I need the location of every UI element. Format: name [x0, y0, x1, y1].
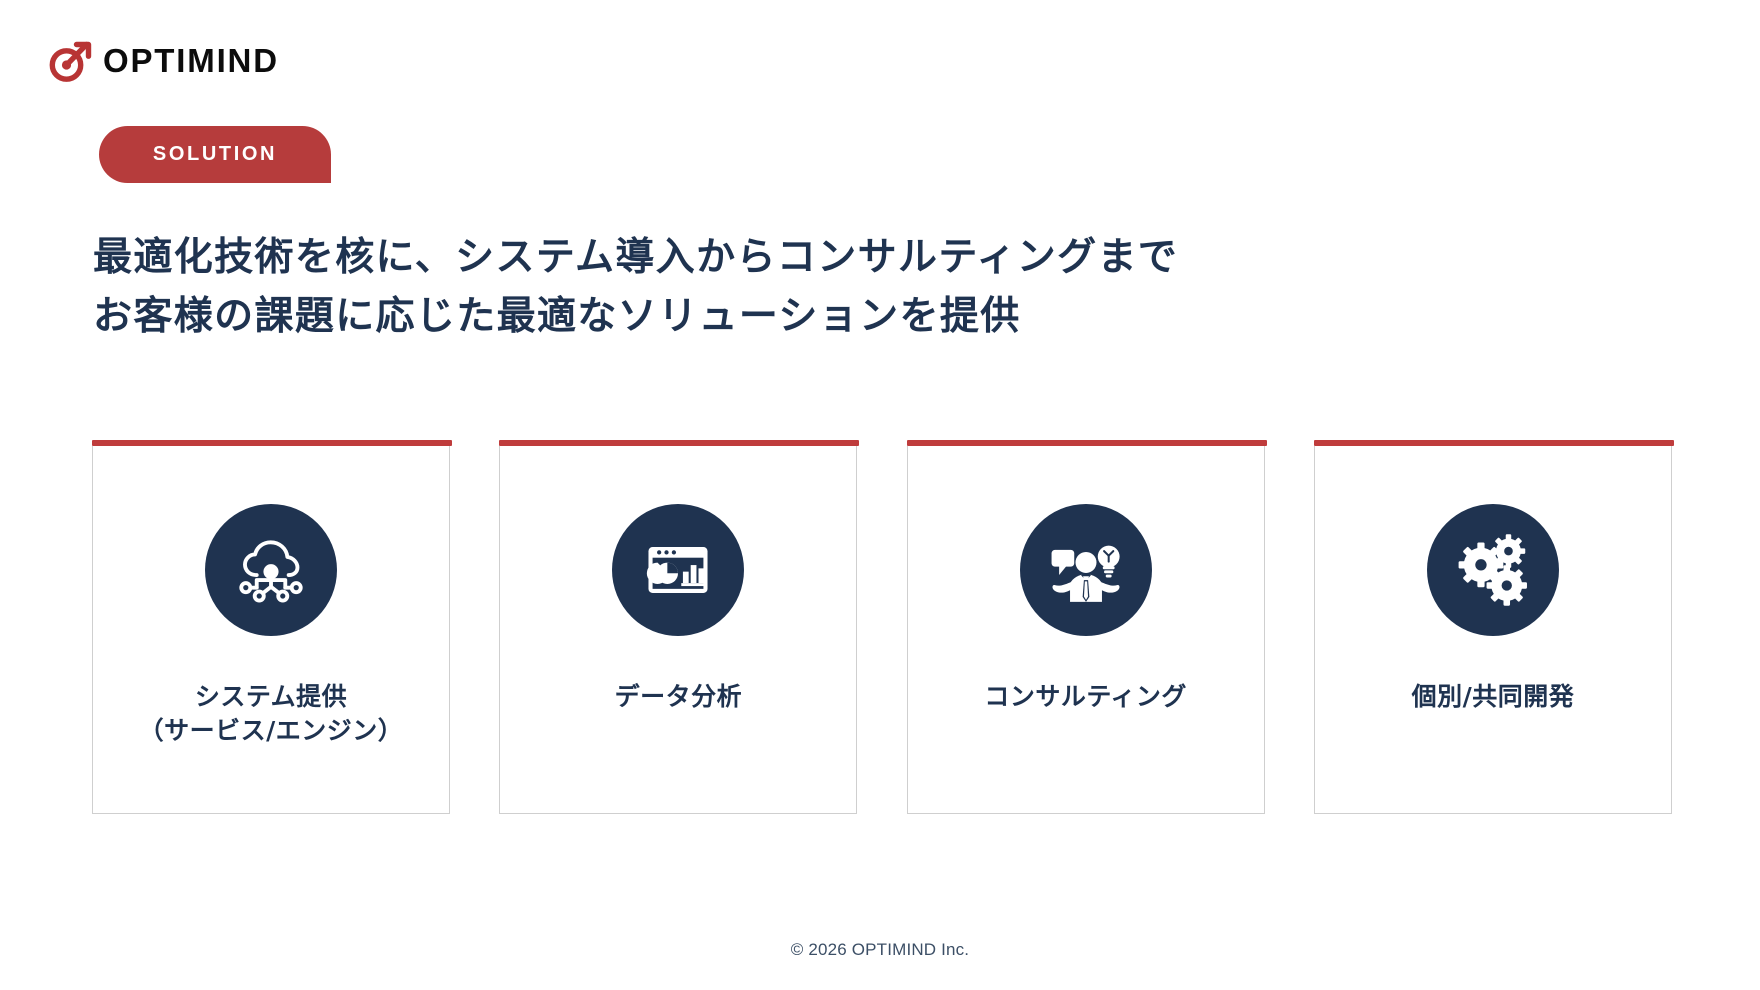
- solution-card-system[interactable]: システム提供 （サービス/エンジン）: [92, 446, 450, 814]
- section-badge-label: SOLUTION: [153, 143, 277, 166]
- page-title: 最適化技術を核に、システム導入からコンサルティングまで お客様の課題に応じた最適…: [93, 228, 1178, 347]
- card-accent-bar: [1314, 440, 1674, 446]
- card-accent-bar: [92, 440, 452, 446]
- consultant-person-icon: [1020, 504, 1152, 636]
- cloud-network-icon: [205, 504, 337, 636]
- solution-card-label: コンサルティング: [974, 680, 1197, 714]
- brand-wordmark: OPTIMIND: [103, 44, 279, 77]
- card-accent-bar: [907, 440, 1267, 446]
- solution-card-label: システム提供 （サービス/エンジン）: [129, 680, 414, 748]
- gears-icon: [1427, 504, 1559, 636]
- solution-card-label: 個別/共同開発: [1402, 680, 1585, 714]
- section-badge: SOLUTION: [99, 126, 331, 183]
- solution-card-label: データ分析: [605, 680, 753, 714]
- solution-card-data-analysis[interactable]: データ分析: [499, 446, 857, 814]
- dashboard-analytics-icon: [612, 504, 744, 636]
- page-title-line-1: 最適化技術を核に、システム導入からコンサルティングまで: [93, 228, 1178, 287]
- footer-copyright: © 2026 OPTIMIND Inc.: [0, 940, 1760, 960]
- page-title-line-2: お客様の課題に応じた最適なソリューションを提供: [93, 287, 1178, 346]
- slide-root: OPTIMIND SOLUTION 最適化技術を核に、システム導入からコンサルテ…: [0, 0, 1760, 990]
- solution-card-list: システム提供 （サービス/エンジン）: [92, 446, 1672, 814]
- solution-card-consulting[interactable]: コンサルティング: [907, 446, 1265, 814]
- brand-logo: OPTIMIND: [48, 38, 279, 82]
- solution-card-development[interactable]: 個別/共同開発: [1314, 446, 1672, 814]
- optimind-mark-icon: [48, 38, 94, 82]
- card-accent-bar: [499, 440, 859, 446]
